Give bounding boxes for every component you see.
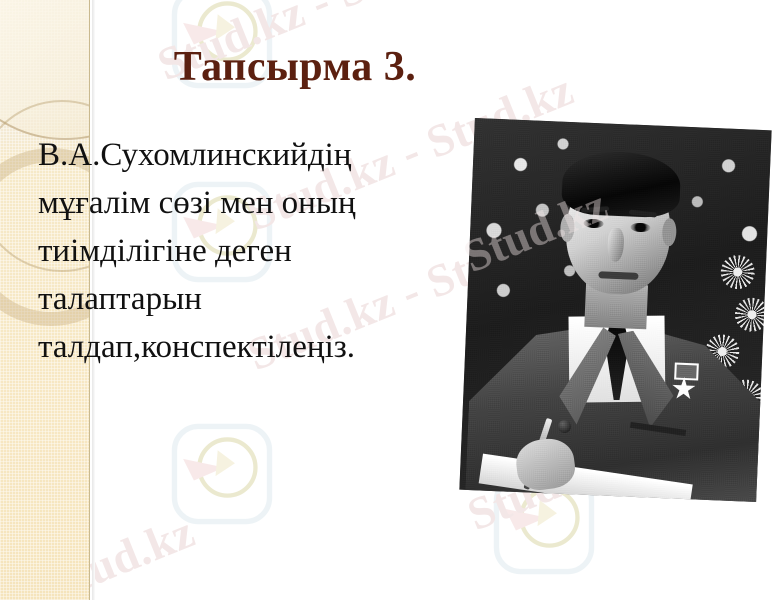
slide-content: Тапсырма 3. В.А.Сухомлинскийдің мұғалім … <box>0 0 782 600</box>
body-line: В.А.Сухомлинскийдің <box>38 131 458 179</box>
body-line: талдап,конспектілеңіз. <box>38 323 458 371</box>
body-line: мұғалім сөзі мен оның <box>38 179 458 227</box>
presentation-slide: Stud.kz - Stud.kz Stud.kz - Stud.kz Stud… <box>0 0 782 600</box>
page-title: Тапсырма 3. <box>120 45 470 89</box>
body-line: талаптарын <box>38 275 458 323</box>
body-line: тиімділігіне деген <box>38 227 458 275</box>
body-text-block: В.А.Сухомлинскийдің мұғалім сөзі мен оны… <box>38 131 458 371</box>
